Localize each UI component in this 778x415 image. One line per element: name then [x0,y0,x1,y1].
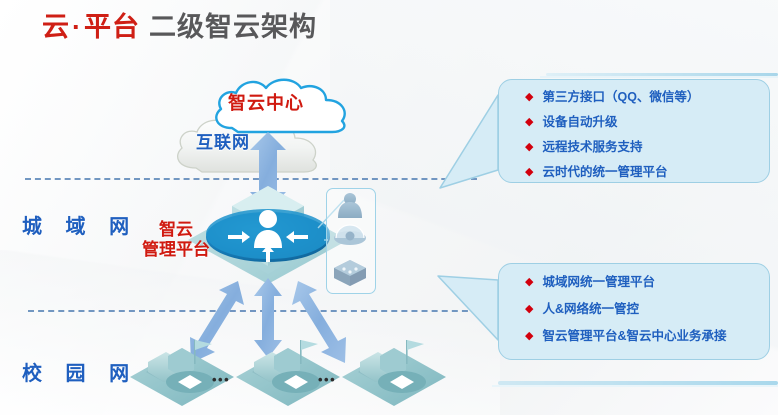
arrow-fan-center [254,278,282,358]
diamond-bullet-icon: ◆ [525,92,533,103]
platform-label: 智云 管理平台 [128,220,224,260]
callout-1-tail [440,95,498,188]
list-item: ◆设备自动升级 [525,115,769,129]
list-item: ◆云时代的统一管理平台 [525,165,769,179]
diamond-bullet-icon: ◆ [525,142,533,153]
callout-1-item-3: 云时代的统一管理平台 [542,165,667,179]
callout-2-list: ◆城域网统一管理平台 ◆人&网络统一管控 ◆智云管理平台&智云中心业务承接 [499,264,769,343]
list-item: ◆人&网络统一管控 [525,302,769,316]
callout-1-list: ◆第三方接口（QQ、微信等） ◆设备自动升级 ◆远程技术服务支持 ◆云时代的统一… [499,80,769,179]
diamond-bullet-icon: ◆ [525,167,533,178]
callout-1-item-1: 设备自动升级 [542,115,617,129]
platform-label-line2: 管理平台 [128,240,224,260]
ellipsis-separator-2: ••• [318,372,336,387]
list-item: ◆远程技术服务支持 [525,140,769,154]
diamond-bullet-icon: ◆ [525,331,533,342]
icon-panel-frame [326,188,376,294]
callout-2-item-1: 人&网络统一管控 [542,302,639,316]
callout-2-tail [438,276,498,340]
callout-1-item-2: 远程技术服务支持 [542,140,642,154]
arrow-fan-left [190,281,244,363]
platform-label-line1: 智云 [128,220,224,240]
list-item: ◆第三方接口（QQ、微信等） [525,90,769,104]
diamond-bullet-icon: ◆ [525,277,533,288]
diamond-bullet-icon: ◆ [525,117,533,128]
callout-2-item-2: 智云管理平台&智云中心业务承接 [542,329,726,343]
list-item: ◆智云管理平台&智云中心业务承接 [525,329,769,343]
callout-box-cloud-features: ◆第三方接口（QQ、微信等） ◆设备自动升级 ◆远程技术服务支持 ◆云时代的统一… [498,79,770,183]
callout-2-item-0: 城域网统一管理平台 [542,275,655,289]
ellipsis-separator-1: ••• [212,372,230,387]
list-item: ◆城域网统一管理平台 [525,275,769,289]
school-building-3 [342,340,446,406]
callout-box-metro-features: ◆城域网统一管理平台 ◆人&网络统一管控 ◆智云管理平台&智云中心业务承接 [498,263,770,360]
slide-canvas: 云·平台二级智云架构 城 域 网 校 园 网 互联网 智云中心 [0,0,778,415]
callout-1-item-0: 第三方接口（QQ、微信等） [542,90,699,104]
diamond-bullet-icon: ◆ [525,304,533,315]
